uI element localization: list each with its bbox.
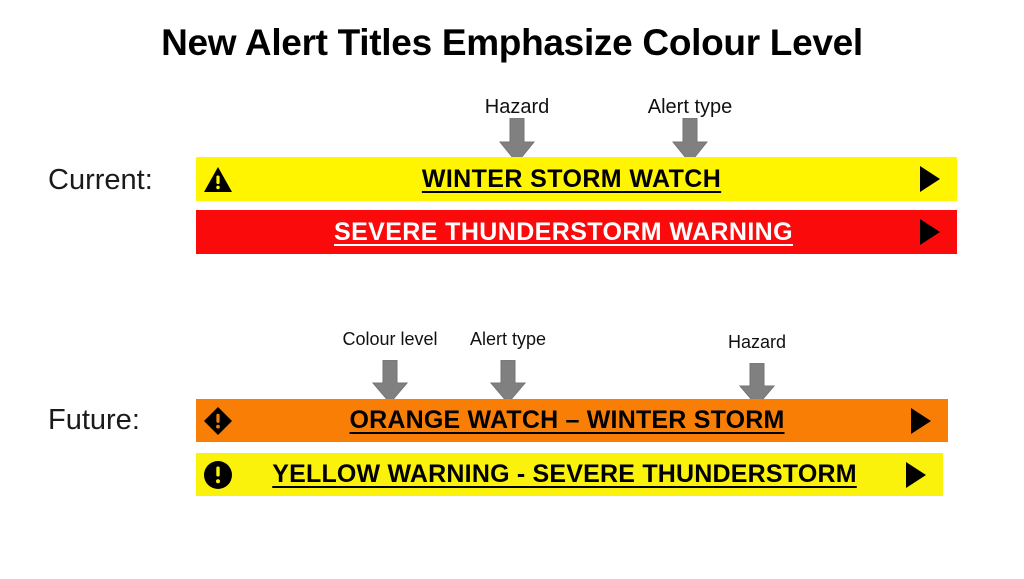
alert-bar-title: YELLOW WARNING - SEVERE THUNDERSTORM xyxy=(240,460,889,489)
alert-bar-severe-thunderstorm-warning[interactable]: SEVERE THUNDERSTORM WARNING xyxy=(196,210,957,254)
callout-label-alert-type-future: Alert type xyxy=(470,329,546,350)
row-label-current: Current: xyxy=(48,164,153,197)
callout-label-alert-type-current: Alert type xyxy=(648,96,732,119)
warning-triangle-icon xyxy=(196,166,240,193)
callout-label-hazard-current: Hazard xyxy=(485,96,549,119)
alert-bar-title: WINTER STORM WATCH xyxy=(240,165,903,194)
alert-bar-title: ORANGE WATCH – WINTER STORM xyxy=(240,406,894,435)
warning-diamond-icon xyxy=(196,406,240,436)
play-triangle-icon[interactable] xyxy=(903,165,957,193)
play-triangle-icon[interactable] xyxy=(894,407,948,435)
alert-bar-orange-watch-winter-storm[interactable]: ORANGE WATCH – WINTER STORM xyxy=(196,399,948,442)
warning-circle-icon xyxy=(196,460,240,490)
play-triangle-icon[interactable] xyxy=(889,461,943,489)
callout-label-colour-level: Colour level xyxy=(342,329,437,350)
page-title: New Alert Titles Emphasize Colour Level xyxy=(0,22,1024,64)
callout-label-hazard-future: Hazard xyxy=(728,332,786,353)
down-arrow-icon xyxy=(490,360,526,404)
play-triangle-icon[interactable] xyxy=(903,218,957,246)
row-label-future: Future: xyxy=(48,404,140,437)
alert-bar-winter-storm-watch[interactable]: WINTER STORM WATCH xyxy=(196,157,957,201)
down-arrow-icon xyxy=(372,360,408,404)
alert-bar-title: SEVERE THUNDERSTORM WARNING xyxy=(224,218,903,247)
alert-bar-yellow-warning-severe-thunderstorm[interactable]: YELLOW WARNING - SEVERE THUNDERSTORM xyxy=(196,453,943,496)
